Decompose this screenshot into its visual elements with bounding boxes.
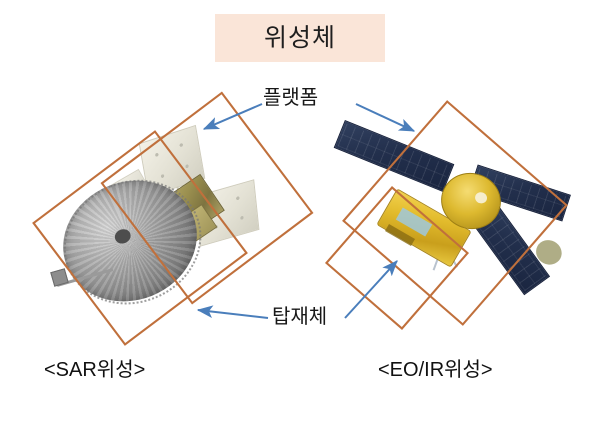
arrow-platform-to-sar — [204, 104, 262, 129]
sar-satellite — [50, 130, 270, 320]
caption-sar-satellite: <SAR위성> — [44, 360, 145, 380]
arrow-platform-to-eoir — [356, 104, 414, 131]
eoir-satellite — [345, 135, 565, 325]
title-banner: 위성체 — [215, 14, 385, 62]
label-payload: 탑재체 — [272, 307, 327, 327]
eoir-solar-panel-upper-left — [334, 120, 455, 192]
label-platform: 플랫폼 — [263, 88, 318, 108]
caption-eoir-satellite: <EO/IR위성> — [378, 360, 493, 380]
diagram-canvas: 위성체 — [0, 0, 600, 425]
page-title: 위성체 — [264, 26, 336, 51]
